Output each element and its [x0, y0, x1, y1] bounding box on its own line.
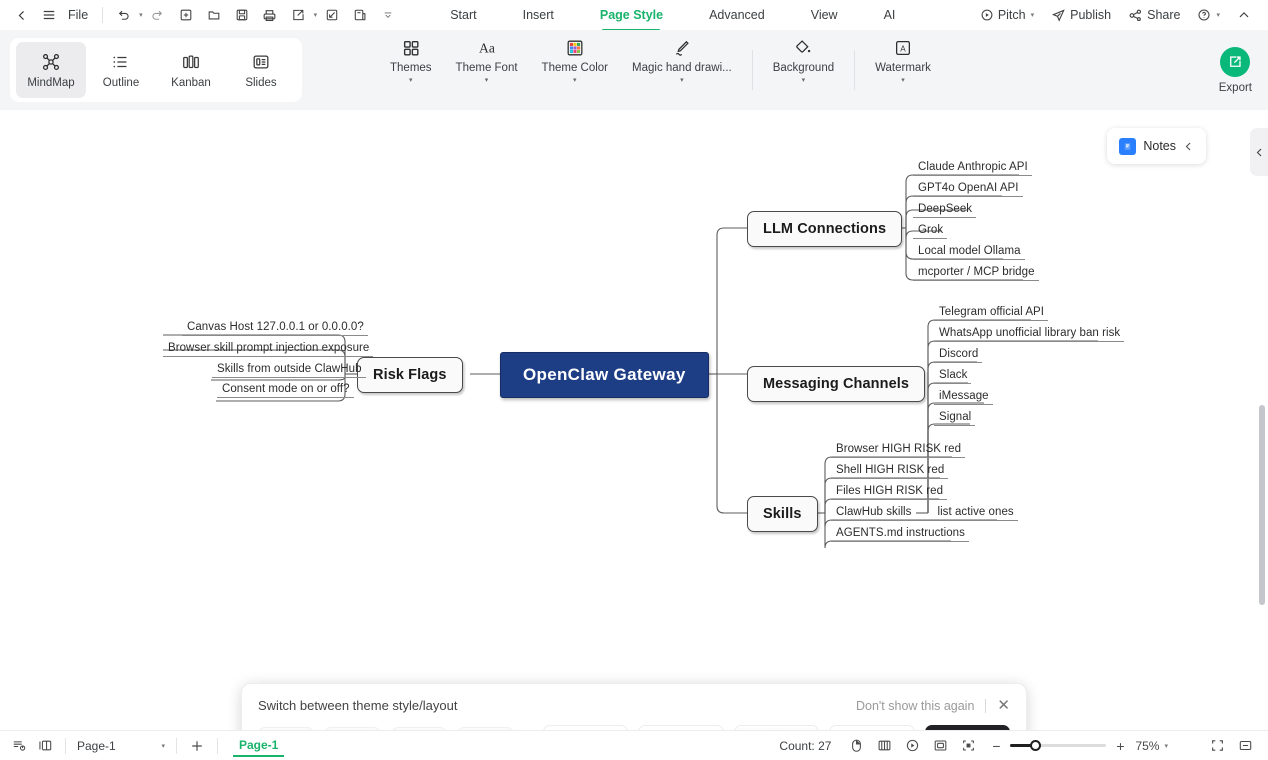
pitch-play-icon — [980, 8, 994, 22]
minimize-window-icon[interactable] — [1232, 734, 1258, 758]
view-mode-mindmap-label: MindMap — [27, 77, 74, 89]
theme-popup-title: Switch between theme style/layout — [258, 698, 457, 713]
book-view-icon[interactable] — [871, 734, 897, 758]
pitch-label: Pitch — [998, 8, 1026, 22]
mindmap-leaf-imessage[interactable]: iMessage — [934, 389, 993, 405]
collapse-chevron-up-icon — [1237, 8, 1251, 22]
add-page-button[interactable] — [184, 734, 210, 758]
mindmap-leaf-shell-risk[interactable]: Shell HIGH RISK red — [831, 463, 948, 479]
magic-hand-dropdown-icon[interactable]: ▾ — [680, 78, 684, 84]
page-selector[interactable]: Page-1 ▾ — [73, 735, 169, 757]
file-menu[interactable]: File — [64, 8, 95, 22]
mindmap-leaf-slack[interactable]: Slack — [934, 368, 971, 384]
view-mode-kanban-label: Kanban — [171, 77, 211, 89]
page-tab-page-1[interactable]: Page-1 — [225, 734, 292, 758]
fullscreen-expand-icon[interactable] — [955, 734, 981, 758]
mindmap-leaf-skills-outside-clawhub[interactable]: Skills from outside ClawHub — [212, 362, 366, 378]
theme-color-palette-icon — [565, 38, 585, 58]
zoom-slider-track[interactable] — [1010, 744, 1106, 747]
mindmap-leaf-gpt4o[interactable]: GPT4o OpenAI API — [913, 181, 1023, 197]
mindmap-leaf-clawhub-skills-note: list active ones — [937, 506, 1013, 518]
fit-to-screen-icon[interactable] — [1204, 734, 1230, 758]
theme-font-label: Theme Font — [456, 62, 518, 74]
theme-color-button[interactable]: Theme Color ▾ — [530, 34, 620, 106]
save-as-icon[interactable] — [347, 3, 373, 27]
help-button[interactable]: ▾ — [1190, 5, 1227, 25]
view-mode-group: MindMap Outline Kanban Slides — [10, 38, 302, 102]
page-selector-value: Page-1 — [77, 739, 160, 753]
mindmap-leaf-deepseek[interactable]: DeepSeek — [913, 202, 976, 218]
zoom-out-button[interactable]: − — [989, 738, 1003, 754]
theme-switcher-popup: Switch between theme style/layout Don't … — [241, 683, 1027, 730]
divider — [854, 50, 855, 90]
mindmap-leaf-agents-md[interactable]: AGENTS.md instructions — [831, 526, 969, 542]
ribbon-tabs: Start Insert Page Style Advanced View AI — [427, 4, 918, 26]
tab-ai[interactable]: AI — [861, 4, 919, 26]
undo-caret-icon[interactable]: ▾ — [139, 11, 143, 19]
watermark-button[interactable]: A Watermark ▾ — [863, 34, 943, 106]
pitch-button[interactable]: Pitch ▾ — [973, 5, 1041, 25]
divider — [217, 738, 218, 754]
themes-grid-icon — [401, 38, 421, 58]
theme-color-dropdown-icon[interactable]: ▾ — [573, 78, 577, 84]
chevron-down-icon[interactable]: ▾ — [1164, 742, 1168, 750]
magic-pen-icon — [671, 38, 692, 58]
hamburger-menu-icon[interactable] — [36, 3, 62, 27]
mindmap-root-node[interactable]: OpenClaw Gateway — [500, 352, 709, 398]
mindmap-canvas[interactable]: Notes — [0, 110, 1268, 730]
mindmap-leaf-signal[interactable]: Signal — [934, 410, 975, 426]
kanban-columns-icon — [181, 52, 201, 72]
themes-dropdown-icon[interactable]: ▾ — [409, 78, 413, 84]
help-question-icon — [1197, 8, 1211, 22]
mindmap-leaf-grok[interactable]: Grok — [913, 223, 947, 239]
status-bar: Page-1 ▾ Page-1 Count: 27 − + — [0, 730, 1268, 760]
mindmap-leaf-consent-mode[interactable]: Consent mode on or off? — [217, 382, 354, 398]
view-mode-slides-label: Slides — [245, 77, 276, 89]
themes-label: Themes — [390, 62, 432, 74]
mindmap-branch-skills[interactable]: Skills — [747, 496, 818, 532]
outline-view-icon[interactable] — [6, 734, 32, 758]
watermark-label: Watermark — [875, 62, 931, 74]
top-menu-bar: File ▾ ▾ — [0, 0, 1268, 30]
vertical-scrollbar[interactable] — [1259, 405, 1265, 605]
tab-insert[interactable]: Insert — [500, 4, 577, 26]
close-x-icon[interactable]: ✕ — [997, 698, 1010, 713]
export-share-icon[interactable] — [285, 3, 311, 27]
split-view-icon[interactable] — [32, 734, 58, 758]
export-caret-icon[interactable]: ▾ — [314, 11, 318, 19]
background-label: Background — [773, 62, 834, 74]
pitch-caret-icon[interactable]: ▾ — [1031, 11, 1035, 19]
zoom-level-value: 75% — [1135, 739, 1159, 753]
mindmap-connectors — [0, 110, 1268, 730]
help-caret-icon[interactable]: ▾ — [1216, 11, 1220, 19]
theme-font-button[interactable]: Aa Theme Font ▾ — [444, 34, 530, 106]
theme-font-dropdown-icon[interactable]: ▾ — [485, 78, 489, 84]
svg-text:Aa: Aa — [479, 41, 495, 56]
mindmap-branch-llm-connections[interactable]: LLM Connections — [747, 211, 902, 247]
zoom-in-button[interactable]: + — [1113, 738, 1127, 754]
mindmap-branch-messaging-channels[interactable]: Messaging Channels — [747, 366, 925, 402]
mouse-pointer-icon[interactable] — [843, 734, 869, 758]
tab-advanced[interactable]: Advanced — [686, 4, 788, 26]
tab-page-style[interactable]: Page Style — [577, 4, 686, 26]
mindmap-leaf-ollama[interactable]: Local model Ollama — [913, 244, 1025, 260]
publish-send-icon — [1051, 8, 1066, 23]
mindmap-leaf-browser-risk[interactable]: Browser HIGH RISK red — [831, 442, 965, 458]
print-icon[interactable] — [257, 3, 283, 27]
view-mode-kanban[interactable]: Kanban — [156, 42, 226, 98]
mindmap-leaf-telegram[interactable]: Telegram official API — [934, 305, 1048, 321]
mindmap-leaf-claude[interactable]: Claude Anthropic API — [913, 160, 1032, 176]
mindmap-leaf-clawhub-skills-text: ClawHub skills — [836, 506, 911, 518]
view-mode-outline[interactable]: Outline — [86, 42, 156, 98]
view-mode-slides[interactable]: Slides — [226, 42, 296, 98]
view-mode-outline-label: Outline — [103, 77, 139, 89]
svg-text:A: A — [900, 45, 906, 54]
dont-show-again-link[interactable]: Don't show this again — [856, 699, 974, 713]
share-label: Share — [1147, 8, 1180, 22]
play-present-icon[interactable] — [899, 734, 925, 758]
share-button[interactable]: Share — [1121, 5, 1187, 26]
slides-icon — [251, 52, 271, 72]
fit-frame-icon[interactable] — [927, 734, 953, 758]
view-mode-mindmap[interactable]: MindMap — [16, 42, 86, 98]
background-dropdown-icon[interactable]: ▾ — [802, 78, 806, 84]
mindmap-leaf-whatsapp[interactable]: WhatsApp unofficial library ban risk — [934, 326, 1124, 342]
node-count-label: Count: 27 — [779, 739, 831, 753]
ribbon-toolbar: MindMap Outline Kanban Slides Themes — [0, 30, 1268, 110]
publish-label: Publish — [1070, 8, 1111, 22]
export-arrow-icon — [1220, 47, 1250, 77]
import-icon[interactable] — [319, 3, 345, 27]
background-fill-icon — [793, 38, 813, 58]
more-chevron-icon[interactable] — [375, 3, 401, 27]
background-button[interactable]: Background ▾ — [761, 34, 846, 106]
export-button[interactable]: Export — [1219, 47, 1252, 94]
theme-color-label: Theme Color — [542, 62, 608, 74]
zoom-level-selector[interactable]: 75% ▾ — [1135, 739, 1168, 753]
page-style-tools: Themes ▾ Aa Theme Font ▾ Theme Color ▾ M… — [378, 34, 943, 106]
zoom-slider[interactable]: − + — [989, 738, 1127, 754]
watermark-a-icon: A — [893, 38, 913, 58]
publish-button[interactable]: Publish — [1044, 5, 1118, 26]
mindmap-tree: OpenClaw Gateway Risk Flags Canvas Host … — [0, 110, 1268, 730]
divider — [102, 7, 103, 23]
chevron-down-icon[interactable]: ▾ — [161, 742, 165, 750]
mindmap-leaf-clawhub-skills[interactable]: ClawHub skillslist active ones — [831, 505, 1018, 521]
new-icon[interactable] — [173, 3, 199, 27]
collapse-ribbon-button[interactable] — [1230, 5, 1258, 25]
divider — [752, 50, 753, 90]
zoom-slider-handle[interactable] — [1030, 740, 1041, 751]
share-nodes-icon — [1128, 8, 1143, 23]
divider — [176, 738, 177, 754]
outline-list-icon — [111, 52, 131, 72]
mindmap-leaf-files-risk[interactable]: Files HIGH RISK red — [831, 484, 947, 500]
tab-start[interactable]: Start — [427, 4, 499, 26]
magic-hand-drawing-label: Magic hand drawi... — [632, 62, 732, 74]
theme-font-aa-icon: Aa — [476, 38, 498, 58]
watermark-dropdown-icon[interactable]: ▾ — [901, 78, 905, 84]
plus-icon — [189, 738, 205, 754]
magic-hand-drawing-button[interactable]: Magic hand drawi... ▾ — [620, 34, 744, 106]
divider — [65, 738, 66, 754]
back-icon[interactable] — [8, 3, 34, 27]
mindmap-branch-risk-flags[interactable]: Risk Flags — [357, 357, 463, 393]
tab-view[interactable]: View — [788, 4, 861, 26]
export-label: Export — [1219, 82, 1252, 94]
mindmap-leaf-discord[interactable]: Discord — [934, 347, 982, 363]
redo-icon[interactable] — [145, 3, 171, 27]
open-icon[interactable] — [201, 3, 227, 27]
mindmap-leaf-canvas-host[interactable]: Canvas Host 127.0.0.1 or 0.0.0.0? — [182, 320, 368, 336]
divider — [985, 699, 986, 713]
themes-button[interactable]: Themes ▾ — [378, 34, 444, 106]
save-icon[interactable] — [229, 3, 255, 27]
mindmap-leaf-browser-skill-injection[interactable]: Browser skill prompt injection exposure — [163, 341, 373, 357]
mindmap-leaf-mcporter[interactable]: mcporter / MCP bridge — [913, 265, 1039, 281]
undo-icon[interactable] — [110, 3, 136, 27]
mindmap-icon — [41, 52, 61, 72]
